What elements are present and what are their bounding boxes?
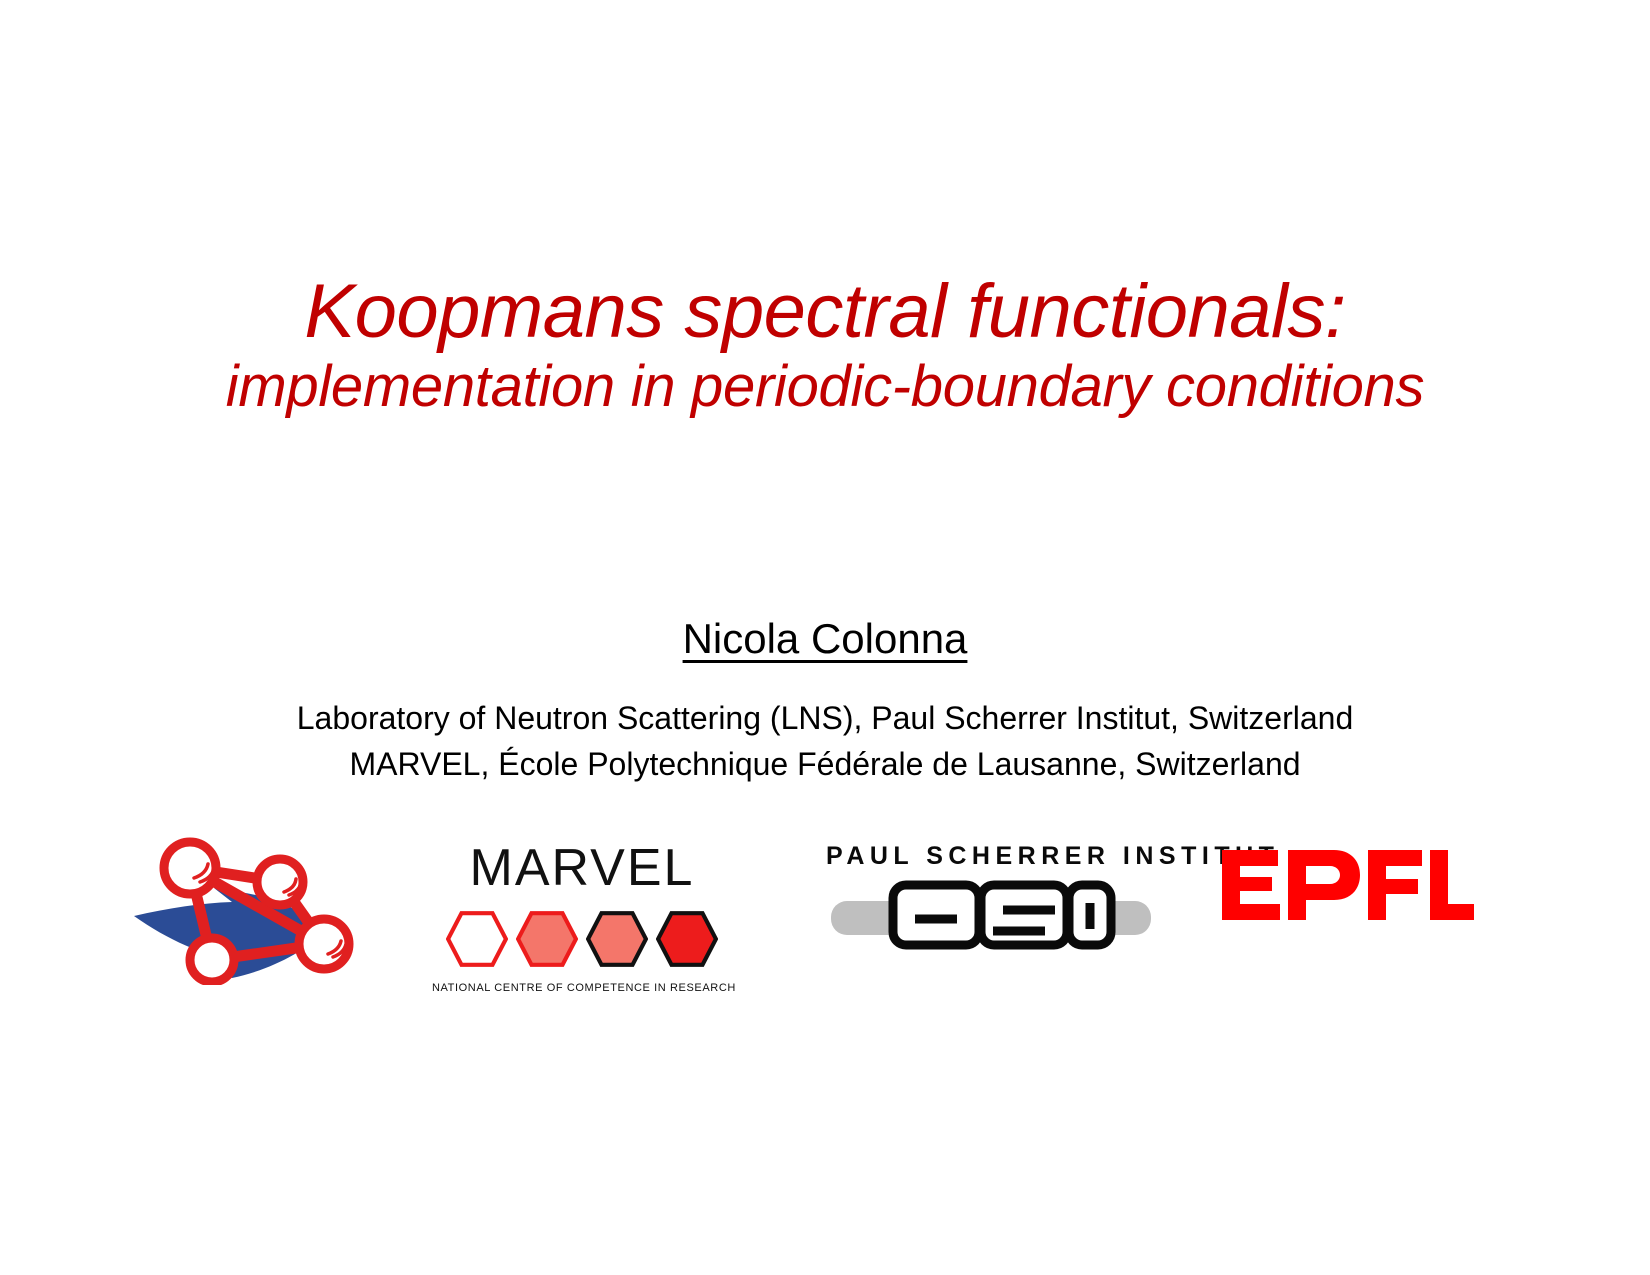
network-molecule-logo xyxy=(128,820,368,985)
epfl-wordmark-icon xyxy=(1222,850,1474,920)
epfl-wordmark xyxy=(1222,850,1492,920)
page-title: Koopmans spectral functionals: implement… xyxy=(0,272,1650,417)
title-subtitle-line: implementation in periodic-boundary cond… xyxy=(0,357,1650,417)
affiliation-list: Laboratory of Neutron Scattering (LNS), … xyxy=(0,695,1650,788)
hexagon-light-filled-icon xyxy=(516,908,578,970)
psi-monogram xyxy=(826,879,1156,951)
author-block: Nicola Colonna xyxy=(0,615,1650,663)
affiliation-line-2: MARVEL, École Polytechnique Fédérale de … xyxy=(0,741,1650,787)
psi-monogram-icon xyxy=(831,879,1151,951)
affiliation-line-1: Laboratory of Neutron Scattering (LNS), … xyxy=(0,695,1650,741)
hexagon-solid-filled-icon xyxy=(656,908,718,970)
network-molecule-icon xyxy=(128,820,368,985)
author-name: Nicola Colonna xyxy=(683,615,968,663)
marvel-hexagon-group xyxy=(432,908,732,970)
marvel-logo: MARVEL NATIONAL CENTRE OF COMPETENCE IN … xyxy=(432,820,732,1000)
hexagon-light-dark-outline-icon xyxy=(586,908,648,970)
logo-row: MARVEL NATIONAL CENTRE OF COMPETENCE IN … xyxy=(0,820,1650,1010)
title-main-line: Koopmans spectral functionals: xyxy=(0,272,1650,351)
psi-logo: PAUL SCHERRER INSTITUT xyxy=(826,820,1156,970)
title-slide: Koopmans spectral functionals: implement… xyxy=(0,0,1650,1275)
epfl-logo xyxy=(1222,820,1492,940)
marvel-wordmark: MARVEL xyxy=(432,820,732,894)
marvel-caption: NATIONAL CENTRE OF COMPETENCE IN RESEARC… xyxy=(432,982,732,994)
hexagon-outline-icon xyxy=(446,908,508,970)
psi-wordmark: PAUL SCHERRER INSTITUT xyxy=(826,820,1156,871)
